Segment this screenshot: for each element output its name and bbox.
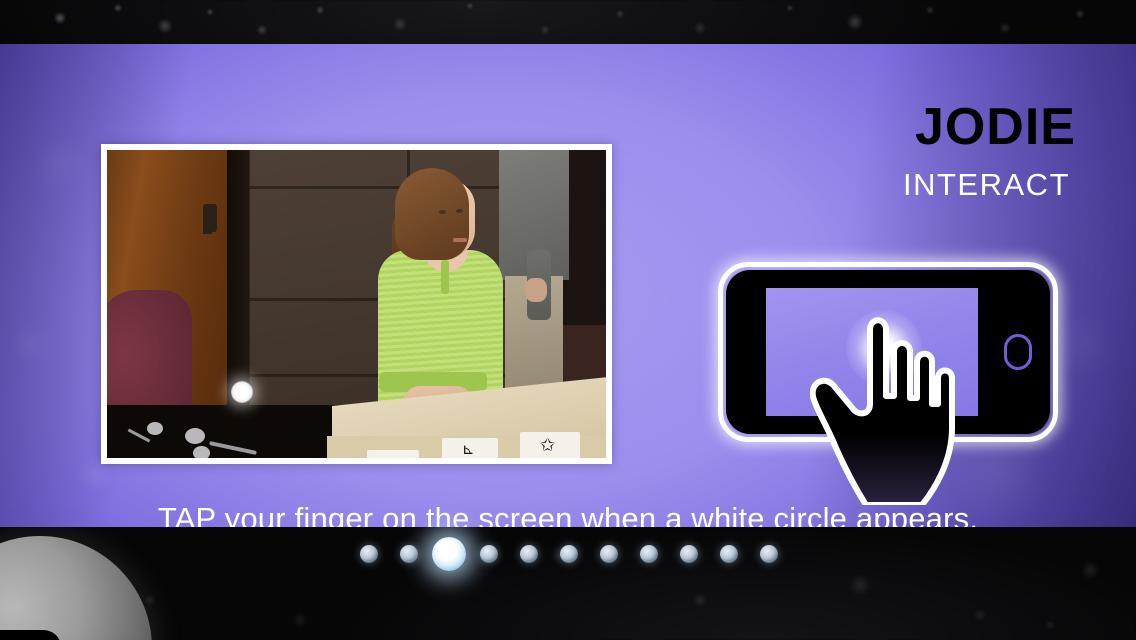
pagination-dot[interactable] bbox=[480, 545, 498, 563]
scene-adult-hand bbox=[525, 278, 547, 302]
scene-microphone bbox=[147, 422, 163, 435]
pagination-dot-active[interactable] bbox=[432, 537, 466, 571]
pagination-dot[interactable] bbox=[520, 545, 538, 563]
scene-child-eye bbox=[456, 209, 463, 213]
page-title: JODIE bbox=[656, 100, 1076, 155]
scene-door-handle bbox=[203, 204, 217, 232]
pagination-dot[interactable] bbox=[600, 545, 618, 563]
scene-microphone bbox=[193, 446, 210, 458]
pagination-dot[interactable] bbox=[560, 545, 578, 563]
pagination-dot[interactable] bbox=[640, 545, 658, 563]
pagination-dot[interactable] bbox=[720, 545, 738, 563]
scene-door-handle-lever bbox=[203, 230, 212, 234]
pagination-dot[interactable] bbox=[680, 545, 698, 563]
scene-child-eye bbox=[439, 210, 446, 214]
scene-child-hair bbox=[395, 168, 469, 260]
back-arrow-icon bbox=[0, 596, 68, 640]
page-subtitle: INTERACT bbox=[656, 169, 1070, 200]
pagination-dot[interactable] bbox=[360, 545, 378, 563]
phone-home-button-icon bbox=[1004, 334, 1032, 370]
tapping-hand-icon bbox=[810, 300, 1000, 505]
pagination-dots bbox=[0, 545, 1136, 585]
tutorial-video-still: ⊾ ✩ bbox=[107, 150, 606, 458]
instruction-caption: TAP your finger on the screen when a whi… bbox=[0, 501, 1136, 527]
scene-card bbox=[367, 450, 419, 458]
pagination-dot[interactable] bbox=[760, 545, 778, 563]
pagination-dot[interactable] bbox=[400, 545, 418, 563]
scene-card-glyph: ⊾ bbox=[462, 442, 475, 457]
scene-microphone bbox=[185, 428, 205, 444]
scene-child-placket bbox=[441, 260, 449, 294]
tutorial-screen: JODIE INTERACT bbox=[0, 0, 1136, 640]
content-panel: JODIE INTERACT bbox=[0, 44, 1136, 527]
phone-tap-illustration bbox=[718, 262, 1066, 502]
scene-card-glyph: ✩ bbox=[540, 436, 555, 454]
white-circle-target[interactable] bbox=[231, 381, 253, 403]
title-block: JODIE INTERACT bbox=[656, 100, 1076, 200]
tutorial-video-frame[interactable]: ⊾ ✩ bbox=[101, 144, 612, 464]
scene-child-mouth bbox=[453, 238, 467, 242]
